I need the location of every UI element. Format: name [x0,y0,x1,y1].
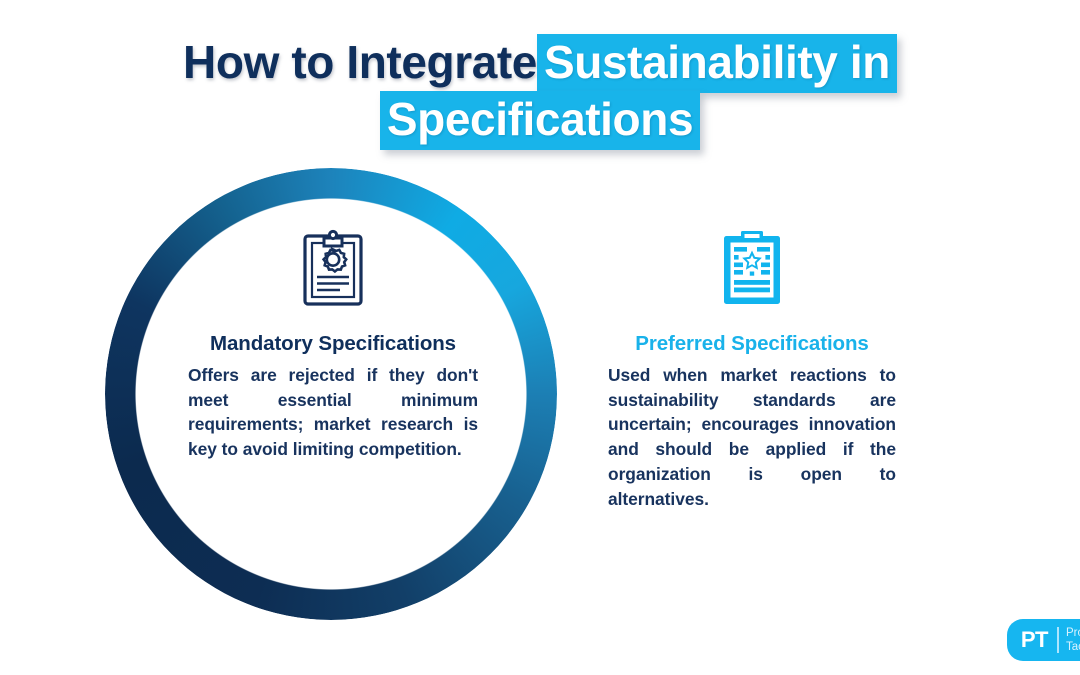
title-highlight-text-1: Sustainability in [537,34,897,93]
brand-logo[interactable]: PT Procu Tacti [1007,619,1080,661]
title-line-2: Specifications [0,91,1080,150]
clipboard-star-icon [608,222,896,314]
card-mandatory-heading: Mandatory Specifications [188,332,478,356]
clipboard-gear-icon [188,222,478,314]
title-highlight-text-2: Specifications [380,91,700,150]
card-mandatory-body: Offers are rejected if they don't meet e… [188,363,478,462]
logo-word-line-1: Procu [1066,626,1080,640]
card-mandatory: Mandatory Specifications Offers are reje… [188,222,478,462]
logo-wordmark: Procu Tacti [1059,626,1080,654]
title-plain-text: How to Integrate [183,35,537,92]
card-preferred-heading: Preferred Specifications [608,332,896,356]
logo-divider [1057,627,1059,653]
page-title: How to IntegrateSustainability in Specif… [0,34,1080,150]
card-preferred-body: Used when market reactions to sustainabi… [608,363,896,511]
logo-word-line-2: Tacti [1066,640,1080,654]
card-preferred: Preferred Specifications Used when marke… [608,222,896,511]
logo-monogram: PT [1021,627,1057,653]
infographic-canvas: How to IntegrateSustainability in Specif… [0,0,1080,675]
title-line-1: How to IntegrateSustainability in [0,34,1080,93]
